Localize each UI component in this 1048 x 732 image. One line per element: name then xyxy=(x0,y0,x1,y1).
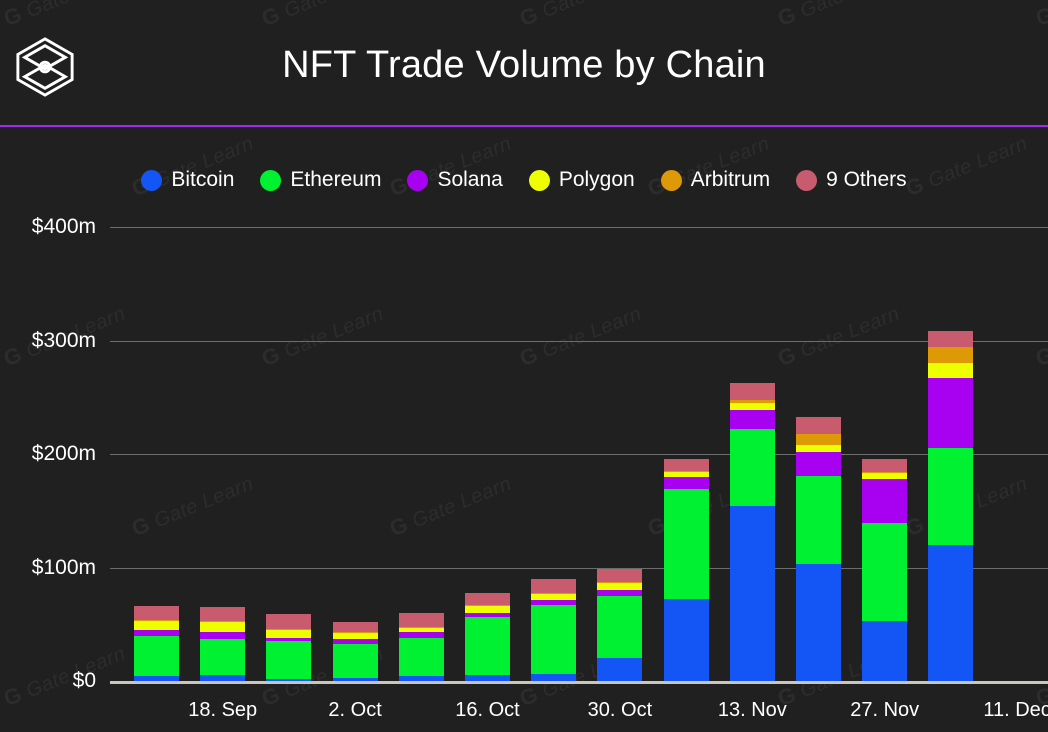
bar-segment-solana xyxy=(862,479,907,523)
x-axis-tick-label: 18. Sep xyxy=(188,699,257,722)
y-axis-tick-label: $400m xyxy=(0,215,96,239)
bar-segment-arbitrum xyxy=(796,434,841,445)
bar-segment-9-others xyxy=(266,614,311,629)
bar-segment-9-others xyxy=(333,622,378,632)
bar-segment-bitcoin xyxy=(266,679,311,681)
bar-segment-polygon xyxy=(730,403,775,410)
bar-segment-9-others xyxy=(730,383,775,400)
bar-segment-solana xyxy=(730,410,775,429)
bar-segment-9-others xyxy=(200,607,245,621)
legend-label: Solana xyxy=(437,168,502,192)
x-axis-tick-label: 11. Dec xyxy=(983,699,1048,722)
bar-segment-ethereum xyxy=(531,605,576,674)
bar-13-nov[interactable] xyxy=(730,383,775,681)
y-axis-tick-label: $200m xyxy=(0,442,96,466)
bar-segment-ethereum xyxy=(597,596,642,658)
chart-header: NFT Trade Volume by Chain xyxy=(0,0,1048,126)
bar-25-sep[interactable] xyxy=(266,614,311,681)
x-axis-tick-label: 2. Oct xyxy=(328,699,381,722)
legend-item-9-others[interactable]: 9 Others xyxy=(796,168,907,192)
bar-segment-ethereum xyxy=(862,523,907,621)
x-axis-tick-label: 13. Nov xyxy=(718,699,787,722)
x-axis-tick-label: 16. Oct xyxy=(455,699,519,722)
bar-segment-solana xyxy=(796,452,841,476)
bar-9-oct[interactable] xyxy=(399,613,444,681)
bar-segment-9-others xyxy=(465,593,510,605)
bar-segment-9-others xyxy=(928,331,973,347)
bar-segment-9-others xyxy=(597,569,642,583)
x-axis-line xyxy=(110,681,1048,684)
legend-swatch-icon xyxy=(796,170,817,191)
legend-swatch-icon xyxy=(141,170,162,191)
bar-segment-polygon xyxy=(928,363,973,378)
legend-item-ethereum[interactable]: Ethereum xyxy=(260,168,381,192)
bar-segment-bitcoin xyxy=(730,506,775,681)
legend-label: Polygon xyxy=(559,168,635,192)
legend-item-polygon[interactable]: Polygon xyxy=(529,168,635,192)
x-axis-tick-label: 27. Nov xyxy=(850,699,919,722)
bar-segment-9-others xyxy=(796,417,841,434)
bar-segment-bitcoin xyxy=(862,621,907,681)
bar-20-nov[interactable] xyxy=(796,417,841,681)
bar-23-oct[interactable] xyxy=(531,579,576,681)
bar-segment-ethereum xyxy=(730,429,775,506)
bar-segment-solana xyxy=(200,632,245,639)
bar-segment-solana xyxy=(928,378,973,448)
legend-label: Bitcoin xyxy=(171,168,234,192)
bar-30-oct[interactable] xyxy=(597,569,642,681)
legend-swatch-icon xyxy=(260,170,281,191)
bar-segment-solana xyxy=(664,477,709,489)
x-axis-tick-label: 30. Oct xyxy=(588,699,652,722)
legend-swatch-icon xyxy=(661,170,682,191)
bar-segment-bitcoin xyxy=(664,599,709,681)
legend-item-arbitrum[interactable]: Arbitrum xyxy=(661,168,770,192)
bar-segment-9-others xyxy=(664,459,709,471)
bar-segment-ethereum xyxy=(134,636,179,677)
bar-segment-bitcoin xyxy=(531,674,576,681)
bar-segment-bitcoin xyxy=(796,564,841,681)
bar-6-nov[interactable] xyxy=(664,459,709,681)
bar-segment-bitcoin xyxy=(928,545,973,681)
chart-page: G Gate LearnG Gate LearnG Gate LearnG Ga… xyxy=(0,0,1048,732)
bar-segment-9-others xyxy=(531,579,576,593)
legend-label: Ethereum xyxy=(290,168,381,192)
y-gridline xyxy=(110,454,1048,455)
bar-11-sep[interactable] xyxy=(134,606,179,681)
bar-segment-bitcoin xyxy=(200,675,245,681)
bar-16-oct[interactable] xyxy=(465,593,510,681)
bar-segment-polygon xyxy=(531,594,576,601)
bar-segment-arbitrum xyxy=(928,347,973,363)
y-axis-tick-label: $100m xyxy=(0,556,96,580)
bar-segment-bitcoin xyxy=(134,676,179,681)
bar-segment-polygon xyxy=(200,622,245,632)
bar-segment-ethereum xyxy=(200,639,245,675)
chart-legend: BitcoinEthereumSolanaPolygonArbitrum9 Ot… xyxy=(0,162,1048,198)
bar-segment-9-others xyxy=(862,459,907,473)
bar-segment-bitcoin xyxy=(597,658,642,681)
legend-item-bitcoin[interactable]: Bitcoin xyxy=(141,168,234,192)
page-title: NFT Trade Volume by Chain xyxy=(0,44,1048,87)
y-axis-tick-label: $0 xyxy=(0,669,96,693)
y-gridline xyxy=(110,227,1048,228)
bar-segment-polygon xyxy=(266,630,311,638)
bar-segment-polygon xyxy=(465,606,510,613)
legend-swatch-icon xyxy=(529,170,550,191)
legend-label: Arbitrum xyxy=(691,168,770,192)
bar-2-oct[interactable] xyxy=(333,622,378,681)
bar-segment-bitcoin xyxy=(333,678,378,681)
bar-11-dec[interactable] xyxy=(928,331,973,681)
bar-segment-ethereum xyxy=(664,489,709,599)
bar-27-nov[interactable] xyxy=(862,459,907,681)
y-gridline xyxy=(110,341,1048,342)
bar-segment-polygon xyxy=(134,621,179,630)
bar-segment-ethereum xyxy=(333,644,378,678)
bar-segment-9-others xyxy=(134,606,179,620)
y-axis-tick-label: $300m xyxy=(0,329,96,353)
bar-segment-polygon xyxy=(796,445,841,452)
title-divider xyxy=(0,125,1048,127)
bar-segment-ethereum xyxy=(266,641,311,678)
bar-segment-ethereum xyxy=(399,638,444,677)
bar-segment-ethereum xyxy=(928,448,973,544)
legend-item-solana[interactable]: Solana xyxy=(407,168,502,192)
legend-swatch-icon xyxy=(407,170,428,191)
bar-segment-bitcoin xyxy=(465,675,510,681)
bar-segment-9-others xyxy=(399,613,444,627)
bar-segment-ethereum xyxy=(465,617,510,675)
bar-18-sep[interactable] xyxy=(200,607,245,681)
bar-segment-polygon xyxy=(597,583,642,590)
bar-segment-bitcoin xyxy=(399,676,444,681)
legend-label: 9 Others xyxy=(826,168,907,192)
bar-segment-ethereum xyxy=(796,476,841,565)
y-gridline xyxy=(110,568,1048,569)
